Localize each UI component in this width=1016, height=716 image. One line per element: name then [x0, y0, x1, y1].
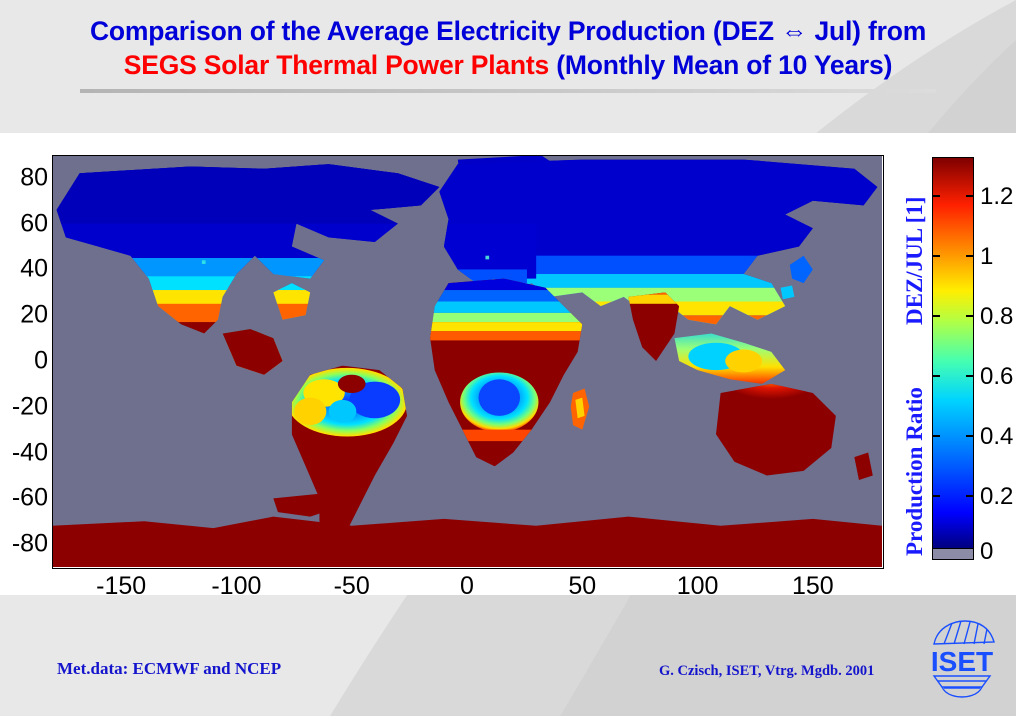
asia-island-speck	[485, 256, 489, 260]
title-line-1-text-a: Comparison of the Average Electricity Pr…	[90, 16, 781, 46]
y-tick-neg80: -80	[2, 530, 48, 559]
y-tick-neg20: -20	[2, 392, 48, 421]
colorbar-gradient	[933, 158, 973, 548]
colorbar-label-0.4: 0.4	[980, 423, 1013, 451]
colorbar-tick-mark-0.4-left	[933, 435, 940, 437]
colorbar-tick-mark-0.2-right	[966, 495, 973, 497]
x-tick-50: 50	[522, 572, 642, 601]
title-line-2-blue-text: (Monthly Mean of 10 Years)	[549, 50, 892, 80]
colorbar-tick-mark-1-right	[966, 255, 973, 257]
colorbar-label-0: 0	[980, 538, 993, 566]
world-map-heatmap	[52, 155, 882, 567]
iset-logo: ISET	[920, 617, 1004, 699]
x-tick-neg100: -100	[176, 572, 296, 601]
pacific-island-speck	[202, 260, 206, 264]
colorbar-label-0.2: 0.2	[980, 483, 1013, 511]
colorbar-under-color-swatch	[932, 549, 974, 560]
colorbar	[932, 157, 974, 549]
y-tick-80: 80	[2, 163, 48, 192]
colorbar-label-1.2: 1.2	[980, 183, 1013, 211]
slide-root: Comparison of the Average Electricity Pr…	[0, 0, 1016, 716]
colorbar-label-0.6: 0.6	[980, 363, 1013, 391]
y-tick-20: 20	[2, 301, 48, 330]
colorbar-tick-mark-0.6-right	[966, 375, 973, 377]
footer-met-data-credit: Met.data: ECMWF and NCEP	[57, 659, 281, 679]
colorbar-tick-mark-1-left	[933, 255, 940, 257]
title-line-2: SEGS Solar Thermal Power Plants (Monthly…	[0, 48, 1016, 82]
footer-author-credit: G. Czisch, ISET, Vtrg. Mgdb. 2001	[659, 663, 874, 680]
y-axis-tick-labels: 80 60 40 20 0 -20 -40 -60 -80	[0, 155, 48, 567]
title-line-1: Comparison of the Average Electricity Pr…	[0, 14, 1016, 48]
colorbar-tick-mark-0.4-right	[966, 435, 973, 437]
colorbar-tick-mark-0.2-left	[933, 495, 940, 497]
x-tick-neg150: -150	[61, 572, 181, 601]
x-axis-tick-labels: -150 -100 -50 0 50 100 150	[52, 572, 882, 606]
title-line-1-text-b: Jul) from	[807, 16, 926, 46]
colorbar-tick-mark-1.2-right	[966, 195, 973, 197]
x-tick-150: 150	[753, 572, 873, 601]
y-tick-neg60: -60	[2, 484, 48, 513]
colorbar-tick-mark-0.6-left	[933, 375, 940, 377]
x-tick-0: 0	[407, 572, 527, 601]
y-tick-40: 40	[2, 255, 48, 284]
y-tick-neg40: -40	[2, 438, 48, 467]
colorbar-label-dez-jul: DEZ/JUL [1]	[902, 197, 928, 325]
logo-wordmark: ISET	[931, 646, 993, 677]
double-arrow-icon: ⇔	[781, 16, 807, 46]
colorbar-label-1: 1	[980, 243, 993, 271]
colorbar-tick-mark-0.8-left	[933, 315, 940, 317]
colorbar-tick-mark-1.2-left	[933, 195, 940, 197]
y-tick-60: 60	[2, 209, 48, 238]
slide-title: Comparison of the Average Electricity Pr…	[0, 14, 1016, 83]
x-tick-neg50: -50	[292, 572, 412, 601]
colorbar-label-0.8: 0.8	[980, 303, 1013, 331]
colorbar-tick-mark-0.8-right	[966, 315, 973, 317]
title-line-2-red-text: SEGS Solar Thermal Power Plants	[124, 50, 549, 80]
y-tick-0: 0	[2, 347, 48, 376]
logo-bowl-icon	[934, 676, 990, 697]
map-svg	[52, 155, 882, 567]
logo-dome-icon	[934, 621, 994, 644]
title-divider-rule	[80, 89, 936, 93]
x-tick-100: 100	[638, 572, 758, 601]
colorbar-label-production-ratio: Production Ratio	[902, 387, 928, 556]
